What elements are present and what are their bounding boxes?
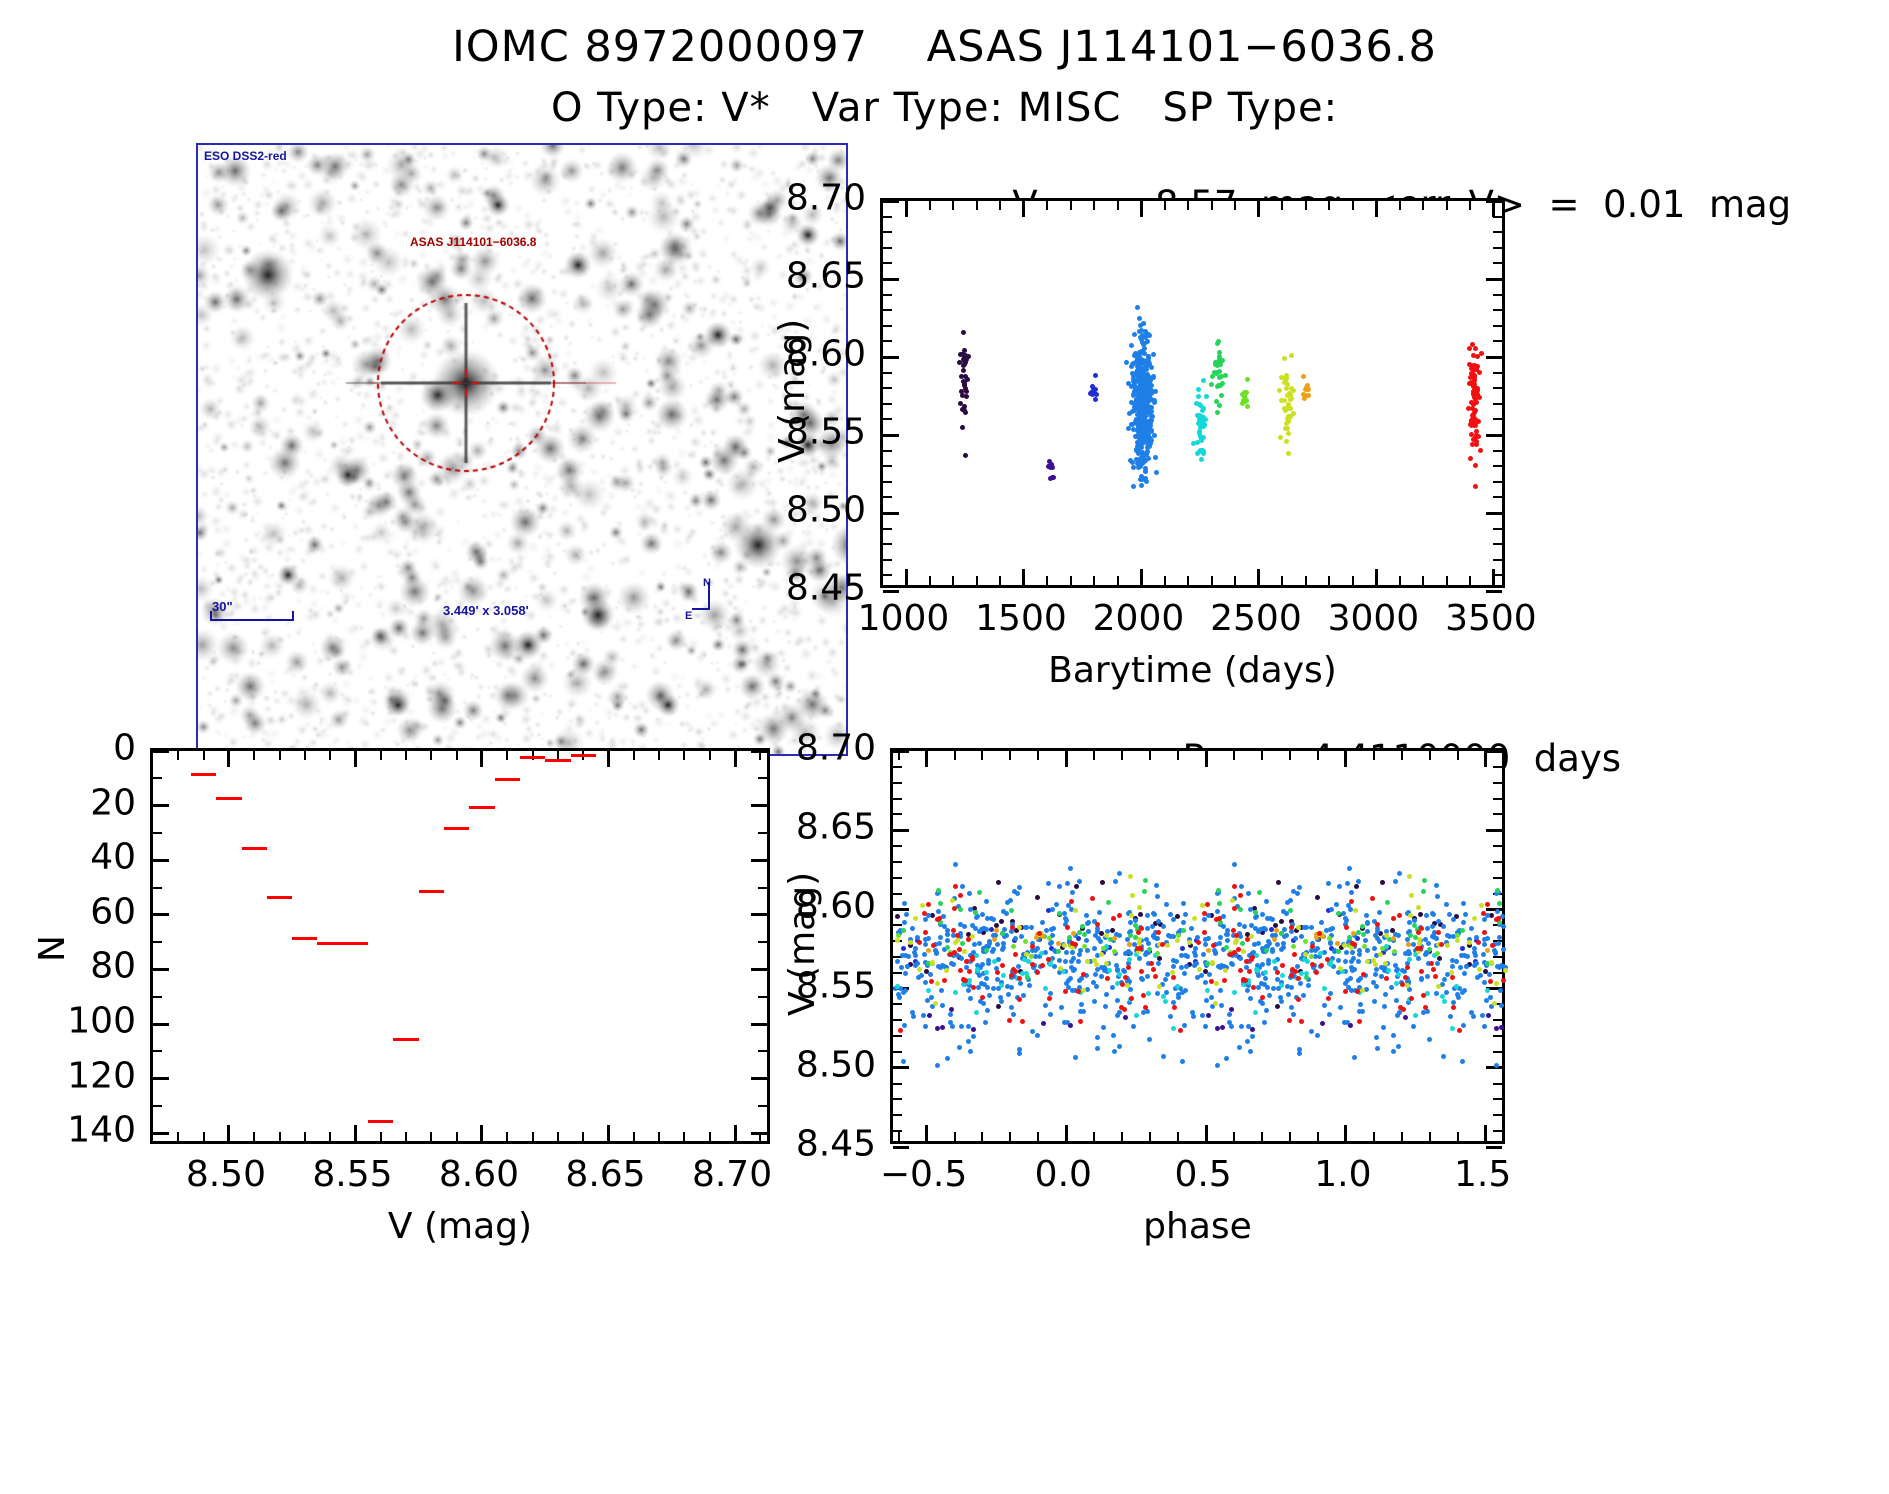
data-point [1209, 382, 1214, 387]
data-point [1451, 917, 1456, 922]
data-point [1017, 997, 1022, 1002]
y-minor-tick [893, 1083, 902, 1085]
data-point [1035, 895, 1040, 900]
data-point [1242, 924, 1247, 929]
x-tick [480, 1125, 483, 1141]
data-point [1033, 948, 1038, 953]
data-point [1401, 1007, 1406, 1012]
data-point [1009, 929, 1014, 934]
data-point [1214, 981, 1219, 986]
x-minor-tick [1469, 576, 1471, 585]
data-point [1095, 1035, 1100, 1040]
x-minor-tick [1401, 751, 1403, 760]
y-tick [1486, 590, 1502, 593]
data-point [1140, 977, 1145, 982]
data-point [1360, 1009, 1365, 1014]
data-point [1115, 981, 1120, 986]
y-minor-tick [1493, 1019, 1502, 1021]
y-tick-label: 8.70 [796, 728, 876, 769]
data-point [1115, 998, 1120, 1003]
y-tick [1486, 512, 1502, 515]
data-point [1351, 931, 1356, 936]
data-point [1092, 946, 1097, 951]
data-point [904, 912, 909, 917]
data-point [1503, 968, 1508, 973]
data-point [1427, 947, 1432, 952]
data-point [1204, 394, 1209, 399]
data-point [1203, 980, 1208, 985]
data-point [1245, 937, 1250, 942]
x-minor-tick [1469, 201, 1471, 210]
data-point [1132, 353, 1137, 358]
data-point [944, 968, 949, 973]
data-point [1473, 463, 1478, 468]
y-tick [751, 804, 767, 807]
data-point [1230, 898, 1235, 903]
data-point [1354, 884, 1359, 889]
data-point [1279, 919, 1284, 924]
data-point [1349, 965, 1354, 970]
data-point [1288, 898, 1293, 903]
data-point [1227, 1012, 1232, 1017]
y-tick-label: 8.45 [796, 1124, 876, 1165]
data-point [1494, 981, 1499, 986]
data-point [1068, 976, 1073, 981]
data-point [1473, 346, 1478, 351]
x-tick [1484, 751, 1487, 767]
data-point [1301, 392, 1306, 397]
x-minor-tick [177, 751, 179, 760]
x-tick-label: −0.5 [880, 1154, 967, 1195]
data-point [1135, 946, 1140, 951]
data-point [1364, 913, 1369, 918]
data-point [1201, 451, 1206, 456]
y-minor-tick [893, 972, 902, 974]
data-point [970, 957, 975, 962]
y-minor-tick [1493, 1051, 1502, 1053]
data-point [1264, 899, 1269, 904]
data-point [960, 941, 965, 946]
data-point [1018, 981, 1023, 986]
data-point [1104, 961, 1109, 966]
data-point [981, 1001, 986, 1006]
data-point [1250, 1027, 1255, 1032]
data-point [1409, 996, 1414, 1001]
data-point [1485, 936, 1490, 941]
data-point [1180, 1059, 1185, 1064]
data-point [974, 915, 979, 920]
x-minor-tick [1233, 751, 1235, 760]
y-tick [1486, 1146, 1502, 1149]
y-minor-tick [1493, 216, 1502, 218]
data-point [1482, 1024, 1487, 1029]
data-point [1239, 1024, 1244, 1029]
x-minor-tick [683, 1132, 685, 1141]
data-point [1406, 942, 1411, 947]
data-point [1260, 995, 1265, 1000]
data-point [1048, 1012, 1053, 1017]
data-point [1194, 961, 1199, 966]
data-point [1422, 878, 1427, 883]
y-tick-label: 60 [90, 891, 136, 932]
data-point [1129, 384, 1134, 389]
data-point [1396, 972, 1401, 977]
x-tick [227, 751, 230, 767]
data-point [1264, 948, 1269, 953]
x-minor-tick [456, 751, 458, 760]
data-point [1291, 411, 1296, 416]
data-point [1400, 982, 1405, 987]
y-tick-label: 0 [113, 728, 136, 769]
data-point [1405, 983, 1410, 988]
data-point [983, 1020, 988, 1025]
x-minor-tick [430, 1132, 432, 1141]
data-point [1111, 1033, 1116, 1038]
data-point [1069, 959, 1074, 964]
data-point [968, 996, 973, 1001]
lightcurve-x-axis-label: Barytime (days) [1048, 650, 1337, 691]
data-point [1301, 993, 1306, 998]
data-point [919, 973, 924, 978]
data-point [1182, 971, 1187, 976]
data-point [1131, 484, 1136, 489]
y-minor-tick [1493, 1083, 1502, 1085]
data-point [966, 1039, 971, 1044]
x-minor-tick [1261, 1132, 1263, 1141]
data-point [1411, 1024, 1416, 1029]
data-point [1460, 928, 1465, 933]
data-point [930, 960, 935, 965]
data-point [1488, 995, 1493, 1000]
data-point [961, 330, 966, 335]
data-point [1451, 1000, 1456, 1005]
data-point [1215, 1026, 1220, 1031]
y-tick [1486, 356, 1502, 359]
x-minor-tick [1234, 576, 1236, 585]
data-point [1297, 885, 1302, 890]
data-point [953, 862, 958, 867]
y-tick-label: 20 [90, 782, 136, 823]
data-point [1245, 988, 1250, 993]
data-point [1476, 434, 1481, 439]
data-point [1328, 941, 1333, 946]
data-point [1474, 400, 1479, 405]
data-point [1201, 952, 1206, 957]
data-point [1206, 936, 1211, 941]
y-minor-tick [893, 861, 902, 863]
data-point [1093, 972, 1098, 977]
data-point [1344, 950, 1349, 955]
x-tick-label: 2000 [1093, 598, 1185, 639]
x-minor-tick [1009, 1132, 1011, 1141]
data-point [1338, 1005, 1343, 1010]
data-point [926, 988, 931, 993]
data-point [936, 909, 941, 914]
data-point [1475, 354, 1480, 359]
data-point [1165, 943, 1170, 948]
histogram-bar [368, 1120, 393, 1123]
data-point [1189, 926, 1194, 931]
data-point [1267, 941, 1272, 946]
data-point [901, 928, 906, 933]
x-tick-label: 1500 [975, 598, 1067, 639]
x-tick [1257, 201, 1260, 217]
y-tick-label: 140 [67, 1110, 136, 1151]
y-tick [751, 750, 767, 753]
x-minor-tick [1121, 1132, 1123, 1141]
data-point [1487, 972, 1492, 977]
data-point [1481, 952, 1486, 957]
data-point [1485, 948, 1490, 953]
data-point [1260, 1001, 1265, 1006]
data-point [942, 978, 947, 983]
data-point [1317, 931, 1322, 936]
data-point [1379, 974, 1384, 979]
data-point [935, 1026, 940, 1031]
data-point [1391, 1033, 1396, 1038]
data-point [899, 965, 904, 970]
data-point [1241, 949, 1246, 954]
data-point [1097, 910, 1102, 915]
data-point [1396, 1044, 1401, 1049]
data-point [938, 901, 943, 906]
data-point [1391, 1049, 1396, 1054]
data-point [950, 898, 955, 903]
data-point [895, 914, 900, 919]
y-minor-tick [883, 325, 892, 327]
data-point [1149, 961, 1154, 966]
data-point [1495, 964, 1500, 969]
x-minor-tick [1149, 1132, 1151, 1141]
data-point [1113, 879, 1118, 884]
y-tick [883, 278, 899, 281]
data-point [1296, 997, 1301, 1002]
data-point [1286, 451, 1291, 456]
data-point [1485, 902, 1490, 907]
data-point [1232, 884, 1237, 889]
y-minor-tick [1493, 956, 1502, 958]
data-point [1352, 1055, 1357, 1060]
data-point [1464, 964, 1469, 969]
finder-scalebar-tick-right [292, 611, 294, 621]
y-minor-tick [883, 294, 892, 296]
data-point [1010, 925, 1015, 930]
data-point [1009, 908, 1014, 913]
data-point [1495, 888, 1500, 893]
data-point [1128, 951, 1133, 956]
data-point [898, 1028, 903, 1033]
y-minor-tick [1493, 813, 1502, 815]
x-tick-label: 1000 [858, 598, 950, 639]
data-point [1282, 380, 1287, 385]
x-minor-tick [203, 751, 205, 760]
data-point [1218, 935, 1223, 940]
data-point [900, 953, 905, 958]
data-point [1434, 991, 1439, 996]
data-point [962, 978, 967, 983]
data-point [958, 922, 963, 927]
data-point [1421, 889, 1426, 894]
data-point [1455, 938, 1460, 943]
y-minor-tick [883, 574, 892, 576]
data-point [1098, 939, 1103, 944]
data-point [1001, 973, 1006, 978]
data-point [1020, 971, 1025, 976]
data-point [901, 990, 906, 995]
data-point [1286, 992, 1291, 997]
histogram-bar [242, 847, 267, 850]
data-point [1215, 341, 1220, 346]
data-point [1232, 906, 1237, 911]
data-point [1216, 964, 1221, 969]
y-tick [893, 908, 909, 911]
data-point [1336, 958, 1341, 963]
histogram-bar [393, 1038, 418, 1041]
data-point [1436, 930, 1441, 935]
data-point [1081, 988, 1086, 993]
data-point [920, 903, 925, 908]
data-point [1407, 874, 1412, 879]
data-point [1465, 954, 1470, 959]
data-point [1389, 985, 1394, 990]
data-point [1217, 403, 1222, 408]
y-tick [1486, 750, 1502, 753]
data-point [1200, 408, 1205, 413]
data-point [1460, 1059, 1465, 1064]
x-minor-tick [658, 751, 660, 760]
data-point [977, 890, 982, 895]
data-point [1035, 970, 1040, 975]
data-point [985, 985, 990, 990]
data-point [1085, 959, 1090, 964]
data-point [953, 990, 958, 995]
histogram-plot [150, 748, 770, 1144]
x-tick-label: 3500 [1445, 598, 1537, 639]
data-point [1301, 374, 1306, 379]
x-tick [1065, 1125, 1068, 1141]
data-point [1472, 946, 1477, 951]
y-minor-tick [1493, 798, 1502, 800]
data-point [961, 363, 966, 368]
y-minor-tick [1493, 543, 1502, 545]
finder-survey-label: ESO DSS2-red [204, 149, 287, 163]
data-point [1501, 924, 1506, 929]
x-minor-tick [1233, 1132, 1235, 1141]
data-point [1291, 1012, 1296, 1017]
data-point [1220, 358, 1225, 363]
y-tick-label: 8.70 [786, 178, 866, 219]
y-minor-tick [1493, 294, 1502, 296]
data-point [902, 901, 907, 906]
x-minor-tick [1399, 201, 1401, 210]
y-tick [883, 200, 899, 203]
data-point [1360, 924, 1365, 929]
histogram-bar [191, 773, 216, 776]
histogram-bar [343, 942, 368, 945]
data-point [1151, 967, 1156, 972]
data-point [1239, 884, 1244, 889]
data-point [945, 932, 950, 937]
x-minor-tick [177, 1132, 179, 1141]
data-point [995, 942, 1000, 947]
data-point [1147, 1037, 1152, 1042]
data-point [1141, 993, 1146, 998]
histogram-bar [267, 896, 292, 899]
y-tick [893, 1066, 909, 1069]
data-point [1498, 988, 1503, 993]
y-tick-label: 100 [67, 1001, 136, 1042]
histogram-y-axis-label: N [32, 935, 73, 962]
data-point [1069, 899, 1074, 904]
data-point [1040, 963, 1045, 968]
data-point [1372, 946, 1377, 951]
data-point [1384, 933, 1389, 938]
data-point [1209, 995, 1214, 1000]
data-point [958, 907, 963, 912]
data-point [1219, 393, 1224, 398]
data-point [1151, 375, 1156, 380]
data-point [1267, 993, 1272, 998]
data-point [1137, 378, 1142, 383]
x-minor-tick [1070, 201, 1072, 210]
data-point [1383, 992, 1388, 997]
x-tick [607, 1125, 610, 1141]
data-point [917, 940, 922, 945]
data-point [1249, 934, 1254, 939]
data-point [1391, 916, 1396, 921]
data-point [1127, 957, 1132, 962]
data-point [1163, 999, 1168, 1004]
data-point [1360, 988, 1365, 993]
y-minor-tick [1493, 1098, 1502, 1100]
y-minor-tick [1493, 465, 1502, 467]
data-point [1266, 958, 1271, 963]
data-point [1338, 966, 1343, 971]
histogram-bar [419, 890, 444, 893]
data-point [985, 1008, 990, 1013]
data-point [1381, 1025, 1386, 1030]
data-point [1245, 1039, 1250, 1044]
data-point [1168, 1014, 1173, 1019]
data-point [1490, 943, 1495, 948]
y-tick-label: 8.65 [796, 807, 876, 848]
data-point [1469, 926, 1474, 931]
data-point [929, 995, 934, 1000]
x-minor-tick [633, 1132, 635, 1141]
data-point [1303, 939, 1308, 944]
data-point [1185, 954, 1190, 959]
x-tick [227, 1125, 230, 1141]
y-minor-tick [883, 387, 892, 389]
x-tick [925, 751, 928, 767]
data-point [1253, 910, 1258, 915]
x-tick [1492, 569, 1495, 585]
data-point [1218, 988, 1223, 993]
data-point [1476, 940, 1481, 945]
data-point [1132, 332, 1137, 337]
data-point [1350, 941, 1355, 946]
data-point [992, 959, 997, 964]
y-minor-tick [883, 340, 892, 342]
y-minor-tick [153, 832, 162, 834]
data-point [1306, 387, 1311, 392]
x-minor-tick [1234, 201, 1236, 210]
data-point [1201, 378, 1206, 383]
data-point [1163, 977, 1168, 982]
x-minor-tick [929, 201, 931, 210]
data-point [1063, 989, 1068, 994]
x-minor-tick [1117, 201, 1119, 210]
